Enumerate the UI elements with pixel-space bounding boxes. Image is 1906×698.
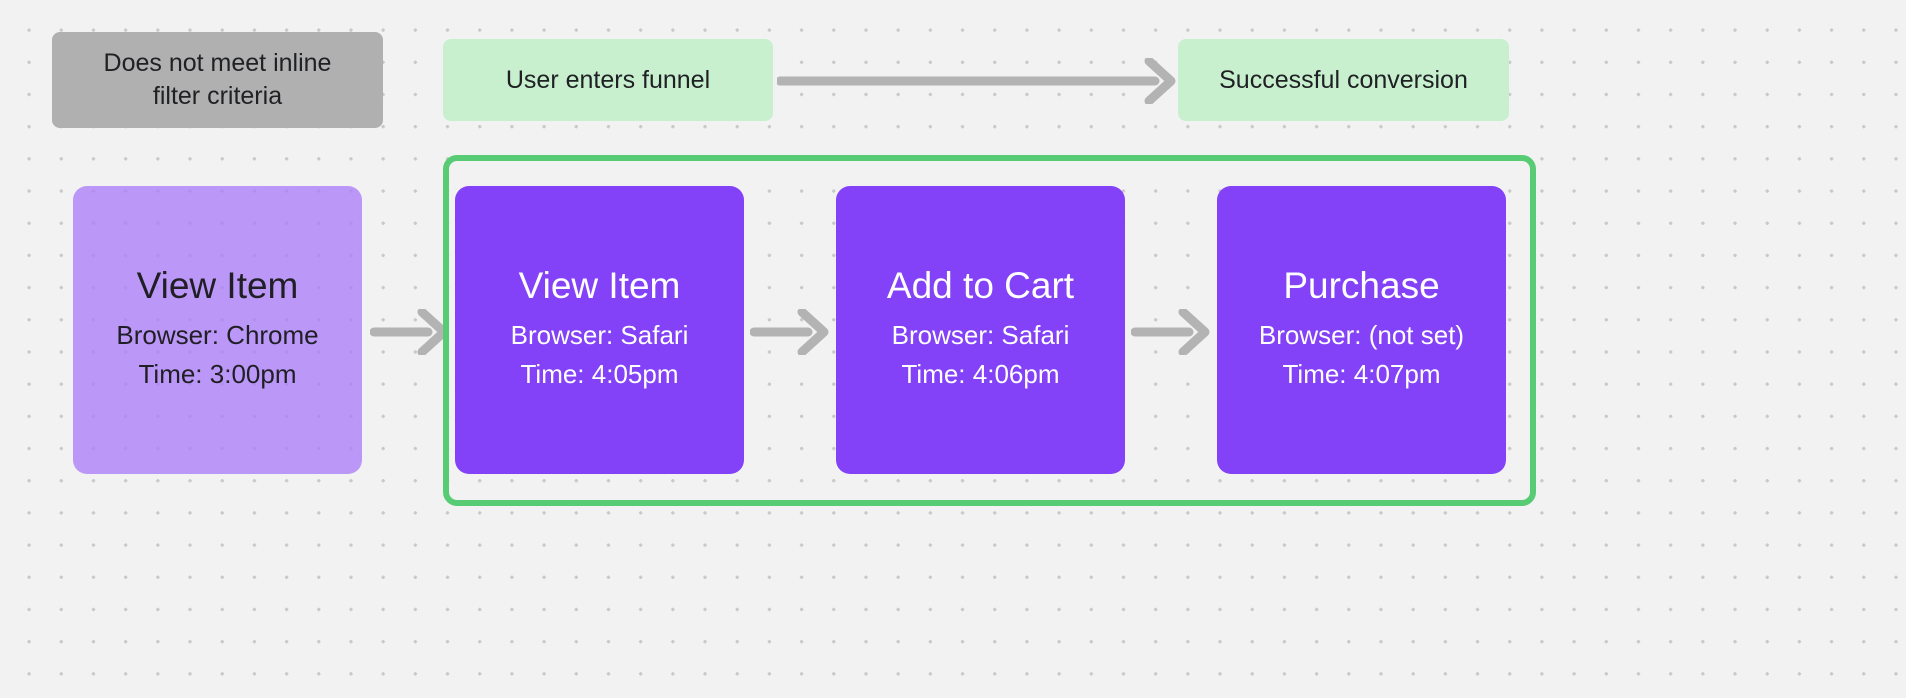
event-card-funnel-2[interactable]: Add to Cart Browser: Safari Time: 4:06pm — [836, 186, 1125, 474]
legend-enters-funnel-label: User enters funnel — [506, 64, 710, 97]
event-card-browser: Browser: Safari — [511, 316, 689, 356]
legend-conversion-box: Successful conversion — [1178, 39, 1509, 121]
event-card-title: Add to Cart — [887, 265, 1074, 306]
event-card-title: Purchase — [1283, 265, 1439, 306]
legend-excluded-label: Does not meet inline filter criteria — [78, 47, 357, 113]
event-card-title: View Item — [137, 265, 299, 306]
event-card-time: Time: 4:06pm — [902, 355, 1060, 395]
event-card-title: View Item — [519, 265, 681, 306]
flow-arrow-right-icon-2 — [750, 309, 830, 355]
event-card-funnel-1[interactable]: View Item Browser: Safari Time: 4:05pm — [455, 186, 744, 474]
event-card-funnel-3[interactable]: Purchase Browser: (not set) Time: 4:07pm — [1217, 186, 1506, 474]
event-card-time: Time: 4:07pm — [1283, 355, 1441, 395]
legend-excluded-box: Does not meet inline filter criteria — [52, 32, 383, 128]
flow-arrow-right-icon-3 — [1131, 309, 1211, 355]
legend-conversion-label: Successful conversion — [1219, 64, 1468, 97]
legend-enters-funnel-box: User enters funnel — [443, 39, 773, 121]
flow-arrow-right-icon-1 — [370, 309, 450, 355]
event-card-time: Time: 3:00pm — [139, 355, 297, 395]
event-card-browser: Browser: (not set) — [1259, 316, 1464, 356]
event-card-excluded[interactable]: View Item Browser: Chrome Time: 3:00pm — [73, 186, 362, 474]
event-card-browser: Browser: Safari — [892, 316, 1070, 356]
event-card-time: Time: 4:05pm — [521, 355, 679, 395]
event-card-browser: Browser: Chrome — [116, 316, 318, 356]
diagram-canvas: Does not meet inline filter criteria Use… — [0, 0, 1906, 698]
legend-arrow-right-icon — [777, 58, 1177, 104]
